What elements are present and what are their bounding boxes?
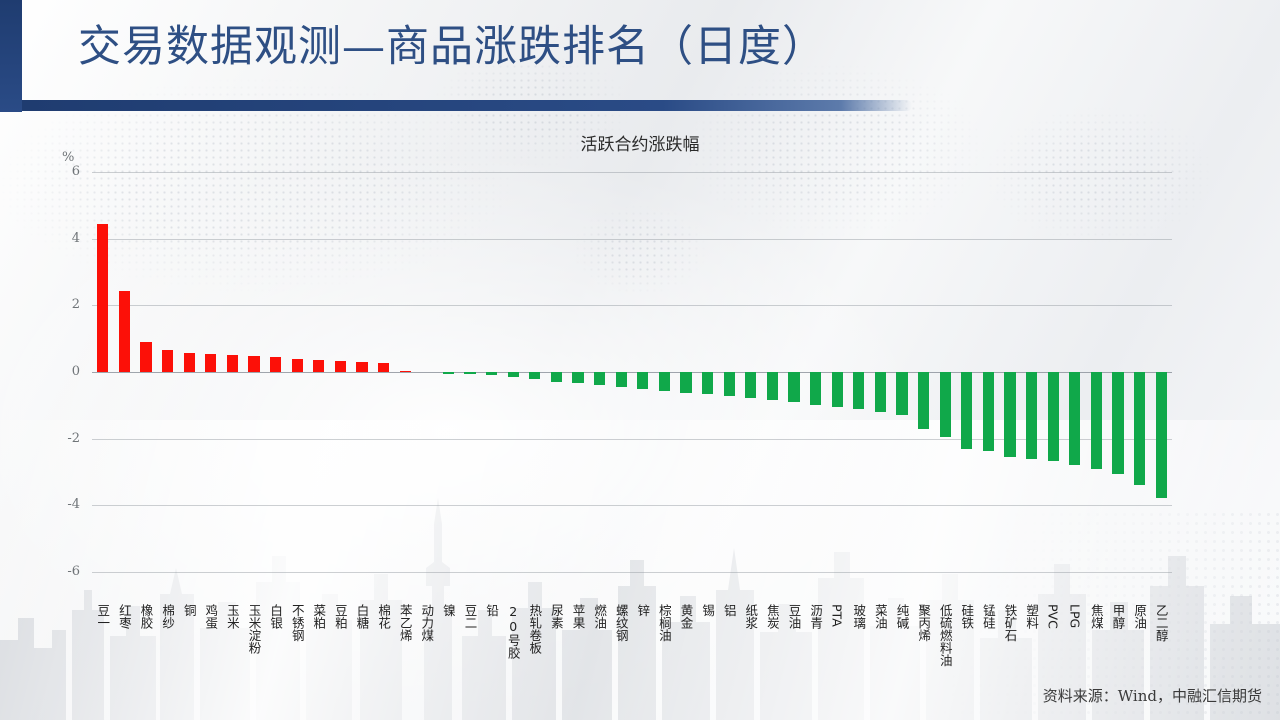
bar [248, 356, 259, 372]
x-axis-tick-label: 菜粕 [312, 604, 326, 629]
bar [1026, 372, 1037, 459]
x-axis-tick-label: 玉米淀粉 [247, 604, 261, 654]
x-axis-tick-label: 铜 [182, 604, 196, 617]
bar [875, 372, 886, 412]
bar [594, 372, 605, 385]
bar [486, 372, 497, 375]
bar [292, 359, 303, 372]
bar [464, 372, 475, 374]
bar [508, 372, 519, 377]
gridline [92, 305, 1172, 306]
x-axis-tick-label: 棉花 [377, 604, 391, 629]
x-axis-tick-label: 燃油 [593, 604, 607, 629]
bar [162, 350, 173, 372]
bar [572, 372, 583, 383]
bar [702, 372, 713, 394]
x-axis-tick-label: 聚丙烯 [917, 604, 931, 642]
bar [1112, 372, 1123, 474]
x-axis-tick-label: LPG [1068, 604, 1082, 628]
x-axis-tick-label: 低硫燃料油 [938, 604, 952, 667]
x-axis-tick-label: 乙二醇 [1154, 604, 1168, 642]
x-axis-tick-label: 20号胶 [506, 604, 520, 659]
bar [270, 357, 281, 372]
bar [680, 372, 691, 393]
bar [616, 372, 627, 387]
x-axis-tick-label: 锌 [636, 604, 650, 617]
bar [745, 372, 756, 398]
bar [724, 372, 735, 396]
x-axis-tick-label: 硅铁 [960, 604, 974, 629]
bar [184, 353, 195, 372]
bar [529, 372, 540, 379]
y-axis-tick-label: 4 [44, 231, 80, 246]
x-axis-tick-label: 豆油 [787, 604, 801, 629]
y-axis-tick-label: 2 [44, 297, 80, 312]
x-axis-tick-label: 尿素 [549, 604, 563, 629]
bar [896, 372, 907, 415]
bar [313, 360, 324, 372]
bar [335, 361, 346, 372]
bar [1069, 372, 1080, 465]
x-axis-tick-label: 铅 [485, 604, 499, 617]
bar [832, 372, 843, 407]
x-axis-tick-label: 不锈钢 [290, 604, 304, 642]
x-axis-tick-label: 白银 [269, 604, 283, 629]
bar [378, 363, 389, 372]
x-axis-tick-label: 焦煤 [1089, 604, 1103, 629]
x-axis-tick-label: 铝 [722, 604, 736, 617]
x-axis-tick-label: 豆粕 [333, 604, 347, 629]
x-axis-tick-label: PVC [1046, 604, 1060, 629]
bar [659, 372, 670, 391]
bar [227, 355, 238, 372]
bar [788, 372, 799, 402]
x-axis-tick-label: 纸浆 [744, 604, 758, 629]
y-axis-tick-label: -6 [44, 564, 80, 579]
bar [1091, 372, 1102, 469]
bar-chart-plot-area: 6420-2-4-6 [92, 172, 1172, 572]
x-axis-tick-label: 甲醇 [1111, 604, 1125, 629]
x-axis-tick-label: PTA [830, 604, 844, 627]
bar [853, 372, 864, 409]
bar [1004, 372, 1015, 457]
bar [983, 372, 994, 451]
x-axis-tick-label: 锡 [701, 604, 715, 617]
x-axis-tick-label: 螺纹钢 [614, 604, 628, 642]
x-axis-tick-label: 纯碱 [895, 604, 909, 629]
x-axis-tick-label: 鸡蛋 [204, 604, 218, 629]
y-axis-tick-label: 0 [44, 364, 80, 379]
bar [140, 342, 151, 372]
bar [551, 372, 562, 382]
x-axis-tick-label: 菜油 [873, 604, 887, 629]
bar [767, 372, 778, 400]
bar [119, 291, 130, 372]
title-underline-rule [22, 100, 912, 111]
source-note: 资料来源：Wind，中融汇信期货 [1043, 685, 1262, 706]
bar [443, 372, 454, 374]
bar [918, 372, 929, 429]
gridline [92, 239, 1172, 240]
x-axis-tick-label: 热轧卷板 [528, 604, 542, 654]
page-title: 交易数据观测—商品涨跌排名（日度） [78, 26, 826, 69]
slide-canvas: 交易数据观测—商品涨跌排名（日度） 活跃合约涨跌幅 % 6420-2-4-6 资… [0, 0, 1280, 720]
bar [1048, 372, 1059, 461]
y-axis-unit-label: % [62, 150, 74, 165]
x-axis-tick-label: 原油 [1133, 604, 1147, 629]
slide-title-band: 交易数据观测—商品涨跌排名（日度） [0, 0, 1280, 112]
x-axis-tick-label: 锰硅 [981, 604, 995, 629]
x-axis-tick-label: 白糖 [355, 604, 369, 629]
gridline [92, 572, 1172, 573]
x-axis-tick-label: 玉米 [225, 604, 239, 629]
gridline [92, 505, 1172, 506]
bar [356, 362, 367, 372]
x-axis-tick-label: 镍 [441, 604, 455, 617]
gridline [92, 172, 1172, 173]
x-axis-tick-label: 焦炭 [765, 604, 779, 629]
bar [97, 224, 108, 372]
bar [810, 372, 821, 405]
x-axis-tick-label: 红枣 [117, 604, 131, 629]
bar [1156, 372, 1167, 498]
x-axis-tick-label: 沥青 [809, 604, 823, 629]
chart-title: 活跃合约涨跌幅 [0, 130, 1280, 155]
y-axis-tick-label: -4 [44, 497, 80, 512]
x-axis-tick-label: 苹果 [571, 604, 585, 629]
y-axis-tick-label: 6 [44, 164, 80, 179]
x-axis-tick-label: 橡胶 [139, 604, 153, 629]
x-axis-tick-label: 塑料 [1025, 604, 1039, 629]
bar [400, 371, 411, 372]
bar [637, 372, 648, 389]
x-axis-tick-label: 棕榈油 [657, 604, 671, 642]
x-axis-tick-label: 豆二 [463, 604, 477, 629]
x-axis-tick-label: 豆一 [96, 604, 110, 629]
y-axis-tick-label: -2 [44, 431, 80, 446]
bar [961, 372, 972, 449]
bar [205, 354, 216, 372]
x-axis-tick-label: 苯乙烯 [398, 604, 412, 642]
x-axis-tick-label: 玻璃 [852, 604, 866, 629]
x-axis-tick-label: 动力煤 [420, 604, 434, 642]
x-axis-tick-label: 棉纱 [161, 604, 175, 629]
bar [1134, 372, 1145, 485]
x-axis-tick-label: 黄金 [679, 604, 693, 629]
bar [940, 372, 951, 437]
title-accent-bar [0, 0, 22, 112]
x-axis-tick-label: 铁矿石 [1003, 604, 1017, 642]
